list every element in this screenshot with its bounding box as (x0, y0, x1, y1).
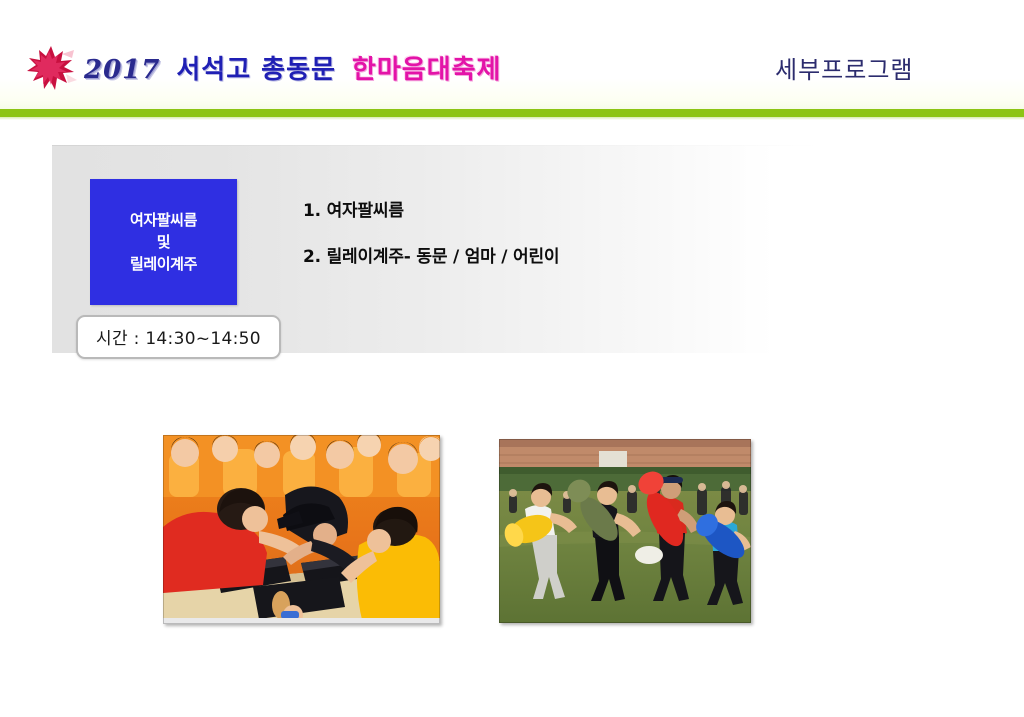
program-item-1: 1. 여자팔씨름 (303, 200, 903, 222)
header-divider-bar (0, 109, 1024, 117)
program-label-box: 여자팔씨름 및 릴레이계주 (90, 179, 237, 305)
title-festival: 한마음대축제 (352, 55, 502, 85)
program-item-2-text: 릴레이계주- 동문 / 엄마 / 어린이 (327, 247, 560, 267)
relay-race-photo (499, 439, 751, 623)
program-item-1-number: 1. (303, 200, 321, 222)
program-time-badge: 시간 : 14:30~14:50 (76, 315, 281, 359)
arm-wrestling-photo (163, 435, 440, 624)
slide-subtitle: 세부프로그램 (775, 50, 913, 85)
program-item-1-text: 여자팔씨름 (327, 201, 404, 221)
slide-header: 2017서석고 총동문한마음대축제 세부프로그램 (0, 0, 1024, 109)
program-item-list: 1. 여자팔씨름 2. 릴레이계주- 동문 / 엄마 / 어린이 (303, 200, 903, 292)
program-label-text: 여자팔씨름 및 릴레이계주 (130, 209, 197, 275)
title-year: 2017 (84, 55, 160, 85)
program-item-2: 2. 릴레이계주- 동문 / 엄마 / 어린이 (303, 246, 903, 268)
program-item-2-number: 2. (303, 246, 321, 268)
presentation-slide: 2017서석고 총동문한마음대축제 세부프로그램 여자팔씨름 및 릴레이계주 1… (0, 0, 1024, 717)
title-school: 서석고 총동문 (176, 55, 336, 85)
slide-title: 2017서석고 총동문한마음대축제 (84, 48, 501, 92)
header-divider-shadow (0, 117, 1024, 120)
maple-leaf-icon (22, 42, 80, 94)
